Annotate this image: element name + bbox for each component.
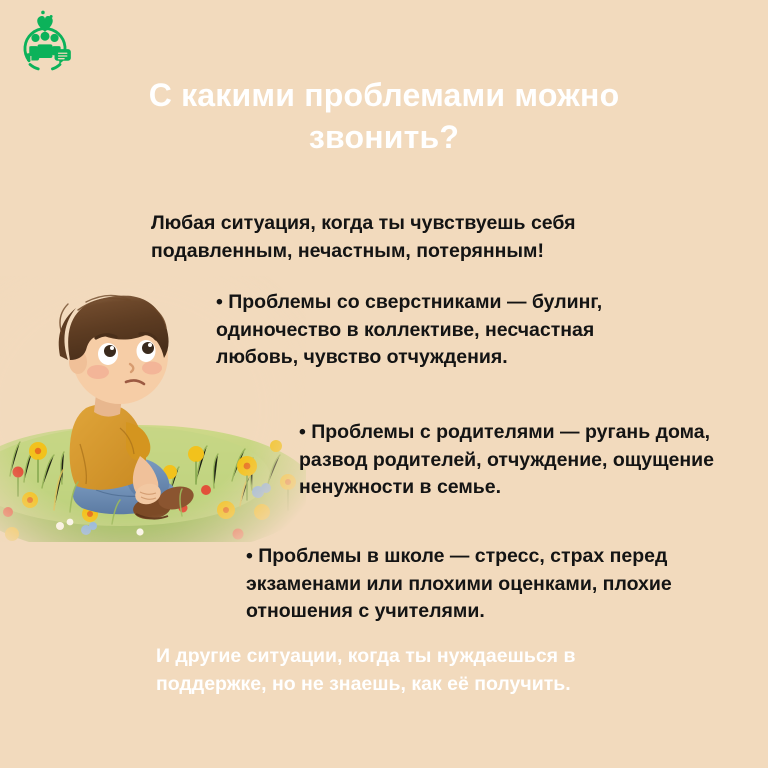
speech-bubble-icon (55, 49, 71, 64)
people-group-icon (50, 34, 58, 42)
thumbs-up-icon (27, 53, 30, 61)
support-community-logo (11, 7, 79, 75)
page-title-line-2: звонить? (86, 116, 682, 158)
people-group-icon (41, 32, 50, 41)
page-title: С какими проблемами можно звонить? (86, 74, 682, 158)
bullet-peers: • Проблемы со сверстниками — булинг, оди… (216, 289, 668, 372)
sparkle-dot-icon (41, 11, 45, 15)
intro-paragraph: Любая ситуация, когда ты чувствуешь себя… (151, 210, 663, 265)
circle-arc-icon (30, 64, 38, 68)
bullet-school: • Проблемы в школе — стресс, страх перед… (246, 543, 676, 626)
bullet-parents: • Проблемы с родителями — ругань дома, р… (299, 419, 765, 502)
people-group-icon (31, 34, 39, 42)
circle-arc-icon (52, 64, 59, 68)
page-title-line-1: С какими проблемами можно (86, 74, 682, 116)
outro-paragraph: И другие ситуации, когда ты нуждаешься в… (156, 643, 586, 698)
